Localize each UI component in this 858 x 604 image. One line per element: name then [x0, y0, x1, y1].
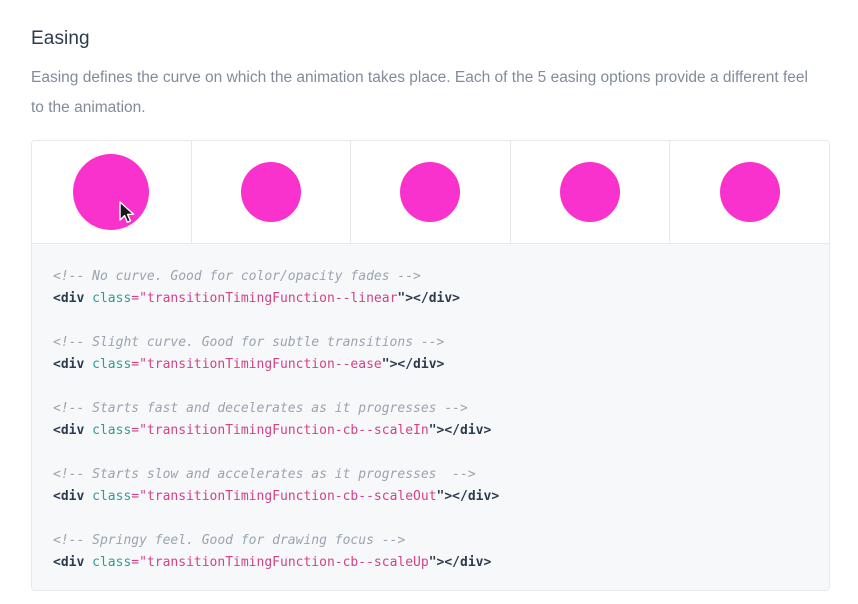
code-tag-close-scaleup: "></div>	[429, 555, 492, 570]
preview-cell-ease[interactable]	[192, 141, 352, 243]
page-title: Easing	[31, 26, 90, 52]
code-tag-open-linear: <div	[53, 291, 92, 306]
code-tag-close-scaleout: "></div>	[437, 489, 500, 504]
code-eq-scalein: ="	[131, 423, 147, 438]
code-spacer	[53, 310, 805, 332]
code-attr-ease: class	[92, 357, 131, 372]
code-comment-scaleout: <!-- Starts slow and accelerates as it p…	[53, 467, 476, 482]
code-attr-scaleout: class	[92, 489, 131, 504]
code-value-linear: transitionTimingFunction--linear	[147, 291, 397, 306]
code-tag-open-scaleup: <div	[53, 555, 92, 570]
code-comment-ease: <!-- Slight curve. Good for subtle trans…	[53, 335, 444, 350]
code-tag-open-scalein: <div	[53, 423, 92, 438]
code-comment-linear: <!-- No curve. Good for color/opacity fa…	[53, 269, 421, 284]
code-tag-open-ease: <div	[53, 357, 92, 372]
preview-cell-scaleout[interactable]	[511, 141, 671, 243]
code-comment-scaleup: <!-- Springy feel. Good for drawing focu…	[53, 533, 405, 548]
preview-cell-scalein[interactable]	[351, 141, 511, 243]
section-description: Easing defines the curve on which the an…	[31, 63, 821, 123]
code-eq-scaleout: ="	[131, 489, 147, 504]
code-attr-scaleup: class	[92, 555, 131, 570]
preview-cell-linear[interactable]	[32, 141, 192, 243]
preview-cell-scaleup[interactable]	[670, 141, 829, 243]
code-block[interactable]: <!-- No curve. Good for color/opacity fa…	[32, 243, 829, 591]
code-spacer	[53, 442, 805, 464]
code-spacer	[53, 508, 805, 530]
code-attr-linear: class	[92, 291, 131, 306]
code-tag-close-scalein: "></div>	[429, 423, 492, 438]
code-snippet: <!-- No curve. Good for color/opacity fa…	[53, 266, 805, 574]
easing-dot-ease[interactable]	[241, 162, 301, 222]
code-eq-ease: ="	[131, 357, 147, 372]
easing-dot-scalein[interactable]	[400, 162, 460, 222]
code-tag-close-ease: "></div>	[382, 357, 445, 372]
code-tag-close-linear: "></div>	[397, 291, 460, 306]
code-spacer	[53, 376, 805, 398]
easing-docs-page: Easing Easing defines the curve on which…	[0, 0, 858, 604]
code-value-scaleup: transitionTimingFunction-cb--scaleUp	[147, 555, 429, 570]
easing-dot-linear[interactable]	[73, 154, 149, 230]
code-value-scaleout: transitionTimingFunction-cb--scaleOut	[147, 489, 437, 504]
easing-demo-card: <!-- No curve. Good for color/opacity fa…	[31, 140, 830, 591]
code-attr-scalein: class	[92, 423, 131, 438]
code-eq-linear: ="	[131, 291, 147, 306]
code-value-ease: transitionTimingFunction--ease	[147, 357, 382, 372]
code-comment-scalein: <!-- Starts fast and decelerates as it p…	[53, 401, 468, 416]
code-value-scalein: transitionTimingFunction-cb--scaleIn	[147, 423, 429, 438]
code-tag-open-scaleout: <div	[53, 489, 92, 504]
easing-dot-scaleout[interactable]	[560, 162, 620, 222]
easing-preview-row	[32, 141, 829, 243]
code-eq-scaleup: ="	[131, 555, 147, 570]
easing-dot-scaleup[interactable]	[720, 162, 780, 222]
